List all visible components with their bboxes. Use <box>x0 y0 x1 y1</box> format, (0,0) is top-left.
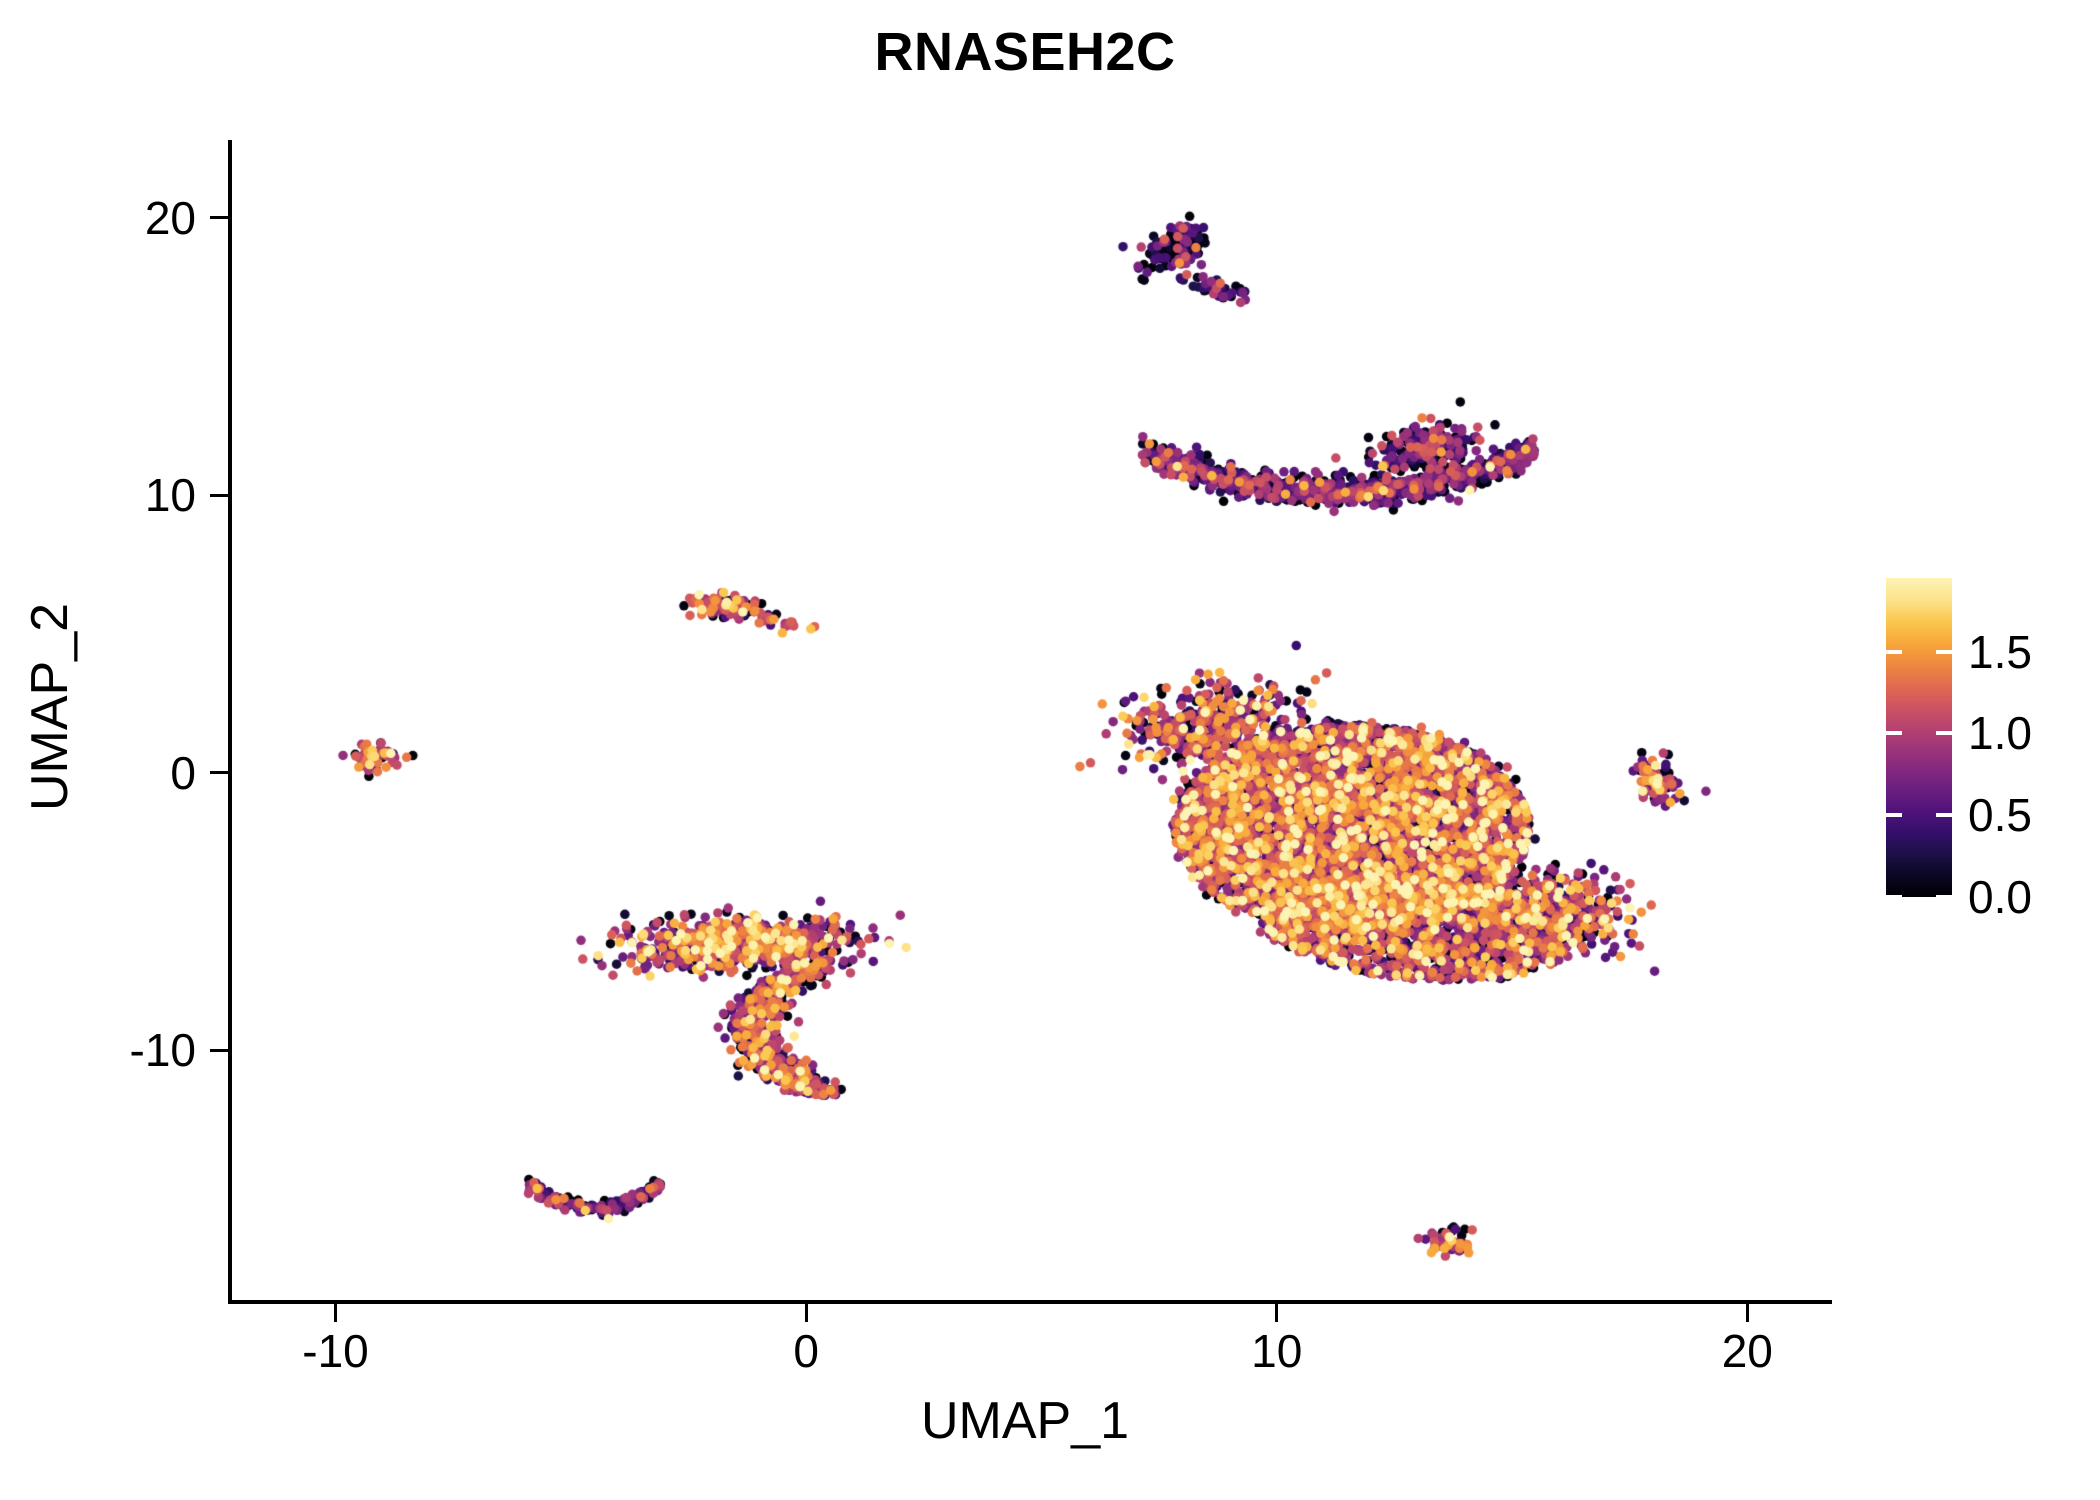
y-tick-mark <box>210 1049 228 1052</box>
x-tick-label: 0 <box>706 1326 906 1376</box>
y-axis-line <box>228 140 232 1301</box>
x-tick-label: 10 <box>1177 1326 1377 1376</box>
y-axis-title: UMAP_2 <box>21 487 79 927</box>
colorbar-legend[interactable]: 1.51.00.50.0 <box>1886 578 2086 898</box>
colorbar-gradient <box>1886 578 1952 897</box>
y-tick-mark <box>210 494 228 497</box>
y-tick-label: -10 <box>0 1025 196 1075</box>
y-tick-mark <box>210 771 228 774</box>
colorbar-tick-label: 1.0 <box>1968 710 2032 756</box>
y-tick-mark <box>210 216 228 219</box>
colorbar-tick-label: 0.0 <box>1968 874 2032 920</box>
page-title: RNASEH2C <box>0 22 2050 82</box>
figure-root: RNASEH2C -1001020 20100-10 UMAP_1 UMAP_2… <box>0 0 2100 1500</box>
x-tick-mark <box>1275 1304 1278 1322</box>
x-tick-mark <box>805 1304 808 1322</box>
x-axis-title: UMAP_1 <box>825 1392 1225 1450</box>
y-tick-label: 20 <box>0 193 196 243</box>
x-tick-label: 20 <box>1647 1326 1847 1376</box>
x-tick-label: -10 <box>236 1326 436 1376</box>
colorbar-tick-label: 0.5 <box>1968 792 2032 838</box>
x-tick-mark <box>334 1304 337 1322</box>
umap-scatter-canvas[interactable] <box>232 140 1832 1300</box>
plot-panel[interactable] <box>232 140 1832 1300</box>
x-axis-line <box>228 1300 1832 1304</box>
colorbar-tick-label: 1.5 <box>1968 629 2032 675</box>
x-tick-mark <box>1746 1304 1749 1322</box>
